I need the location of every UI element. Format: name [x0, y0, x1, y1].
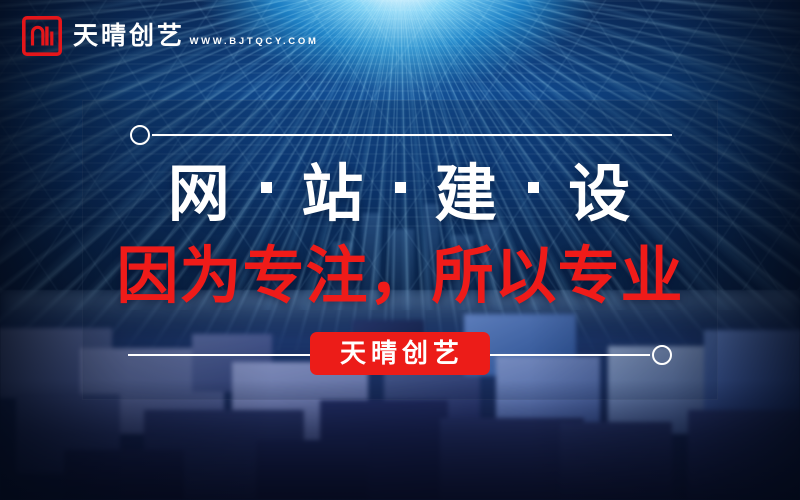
top-divider [130, 134, 672, 136]
headline-main: 网 站 建 设 [0, 164, 800, 226]
headline-char-4: 设 [568, 160, 632, 229]
tianqing-chuangyi-logo-mark-icon [22, 16, 62, 56]
headline-separator-2 [395, 182, 406, 193]
logo[interactable]: 天晴创艺 WWW.BJTQCY.COM [22, 16, 319, 56]
logo-text: 天晴创艺 WWW.BJTQCY.COM [73, 24, 319, 49]
circle-outline-icon [130, 125, 150, 145]
brand-badge: 天晴创艺 [310, 332, 490, 375]
logo-company-name: 天晴创艺 [73, 22, 185, 50]
divider-line [152, 134, 672, 136]
circle-outline-icon [652, 345, 672, 365]
headline-char-1: 网 [168, 160, 232, 229]
headline-subtitle: 因为专注，所以专业 [0, 246, 800, 308]
headline-char-2: 站 [301, 160, 365, 229]
headline-separator-3 [528, 182, 539, 193]
logo-website-url: WWW.BJTQCY.COM [189, 36, 318, 47]
headline-char-3: 建 [435, 160, 499, 229]
divider-line-right [490, 354, 650, 356]
promo-banner: 网 站 建 设 因为专注，所以专业 天晴创艺 天晴创艺 WWW.BJTQCY.C… [0, 0, 800, 500]
divider-line-left [128, 354, 316, 356]
headline-separator-1 [261, 182, 272, 193]
